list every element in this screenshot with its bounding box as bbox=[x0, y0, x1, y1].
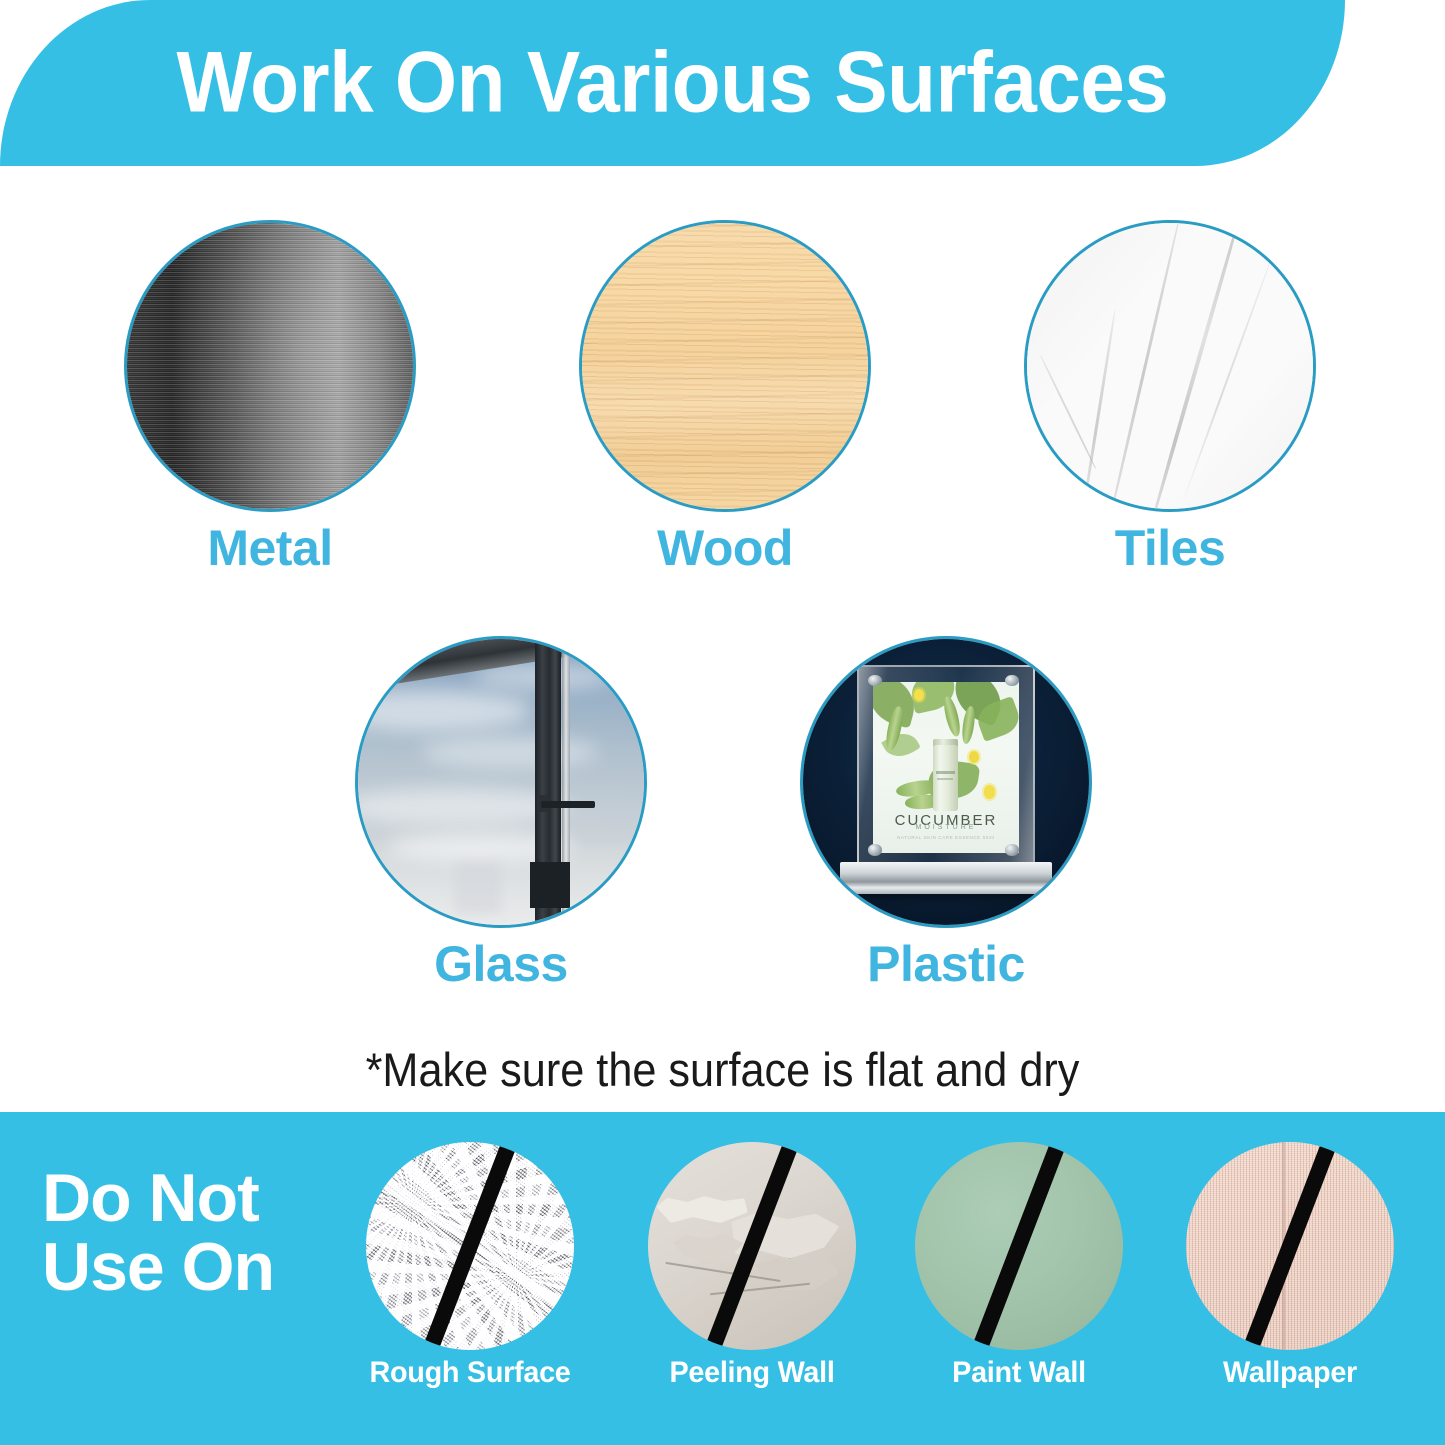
door-handle-icon bbox=[541, 801, 595, 808]
surface-item-tiles: Tiles bbox=[1024, 220, 1316, 575]
marble-texture bbox=[1027, 223, 1313, 509]
avoid-label-paint-wall: Paint Wall bbox=[909, 1356, 1130, 1390]
surface-disc-metal bbox=[124, 220, 416, 512]
avoid-disc-peeling-wall bbox=[648, 1142, 856, 1350]
poster-subtitle: MOISTURE bbox=[873, 824, 1019, 831]
avoid-item-wallpaper: Wallpaper bbox=[1175, 1142, 1405, 1390]
poster-artwork: CUCUMBER MOISTURE NATURAL SKIN CARE ESSE… bbox=[873, 682, 1019, 854]
screw-icon bbox=[868, 675, 882, 686]
sign-holder-base bbox=[840, 862, 1052, 893]
avoid-item-peeling-wall: Peeling Wall bbox=[637, 1142, 867, 1390]
screw-icon bbox=[1005, 675, 1019, 686]
avoid-label-wallpaper: Wallpaper bbox=[1180, 1356, 1401, 1390]
avoid-item-rough-surface: Rough Surface bbox=[355, 1142, 585, 1390]
surface-item-wood: Wood bbox=[579, 220, 871, 575]
surface-label-wood: Wood bbox=[579, 522, 871, 575]
header-banner: Work On Various Surfaces bbox=[0, 0, 1345, 166]
supported-surfaces-section: Metal Wood Tiles bbox=[0, 166, 1445, 1112]
avoid-disc-wallpaper bbox=[1186, 1142, 1394, 1350]
surface-disc-glass bbox=[355, 636, 647, 928]
surface-label-metal: Metal bbox=[124, 522, 416, 575]
screw-icon bbox=[868, 844, 882, 855]
page-title: Work On Various Surfaces bbox=[47, 34, 1298, 133]
surface-label-tiles: Tiles bbox=[1024, 522, 1316, 575]
brushed-metal-texture bbox=[127, 223, 413, 509]
avoid-disc-paint-wall bbox=[915, 1142, 1123, 1350]
glass-window-texture bbox=[358, 639, 644, 925]
surface-label-plastic: Plastic bbox=[800, 938, 1092, 991]
surface-disc-tiles bbox=[1024, 220, 1316, 512]
do-not-use-section: Do Not Use On Rough Surface Peeling Wall… bbox=[0, 1112, 1445, 1445]
surface-item-glass: Glass bbox=[355, 636, 647, 991]
avoid-label-peeling-wall: Peeling Wall bbox=[642, 1356, 863, 1390]
poster-fine-print: NATURAL SKIN CARE ESSENCE 50ml bbox=[873, 835, 1019, 840]
wood-grain-texture bbox=[582, 223, 868, 509]
do-not-use-title-line1: Do Not bbox=[42, 1164, 274, 1233]
acrylic-panel: CUCUMBER MOISTURE NATURAL SKIN CARE ESSE… bbox=[857, 665, 1034, 871]
surface-item-metal: Metal bbox=[124, 220, 416, 575]
surface-disc-wood bbox=[579, 220, 871, 512]
do-not-use-title: Do Not Use On bbox=[42, 1164, 274, 1303]
avoid-item-paint-wall: Paint Wall bbox=[904, 1142, 1134, 1390]
avoid-label-rough-surface: Rough Surface bbox=[360, 1356, 581, 1390]
avoid-disc-rough-surface bbox=[366, 1142, 574, 1350]
surface-disc-plastic: CUCUMBER MOISTURE NATURAL SKIN CARE ESSE… bbox=[800, 636, 1092, 928]
surface-note: *Make sure the surface is flat and dry bbox=[58, 1042, 1387, 1097]
surface-item-plastic: CUCUMBER MOISTURE NATURAL SKIN CARE ESSE… bbox=[800, 636, 1092, 991]
acrylic-sign-holder-scene: CUCUMBER MOISTURE NATURAL SKIN CARE ESSE… bbox=[803, 639, 1089, 925]
do-not-use-title-line2: Use On bbox=[42, 1233, 274, 1302]
surface-label-glass: Glass bbox=[355, 938, 647, 991]
screw-icon bbox=[1005, 844, 1019, 855]
